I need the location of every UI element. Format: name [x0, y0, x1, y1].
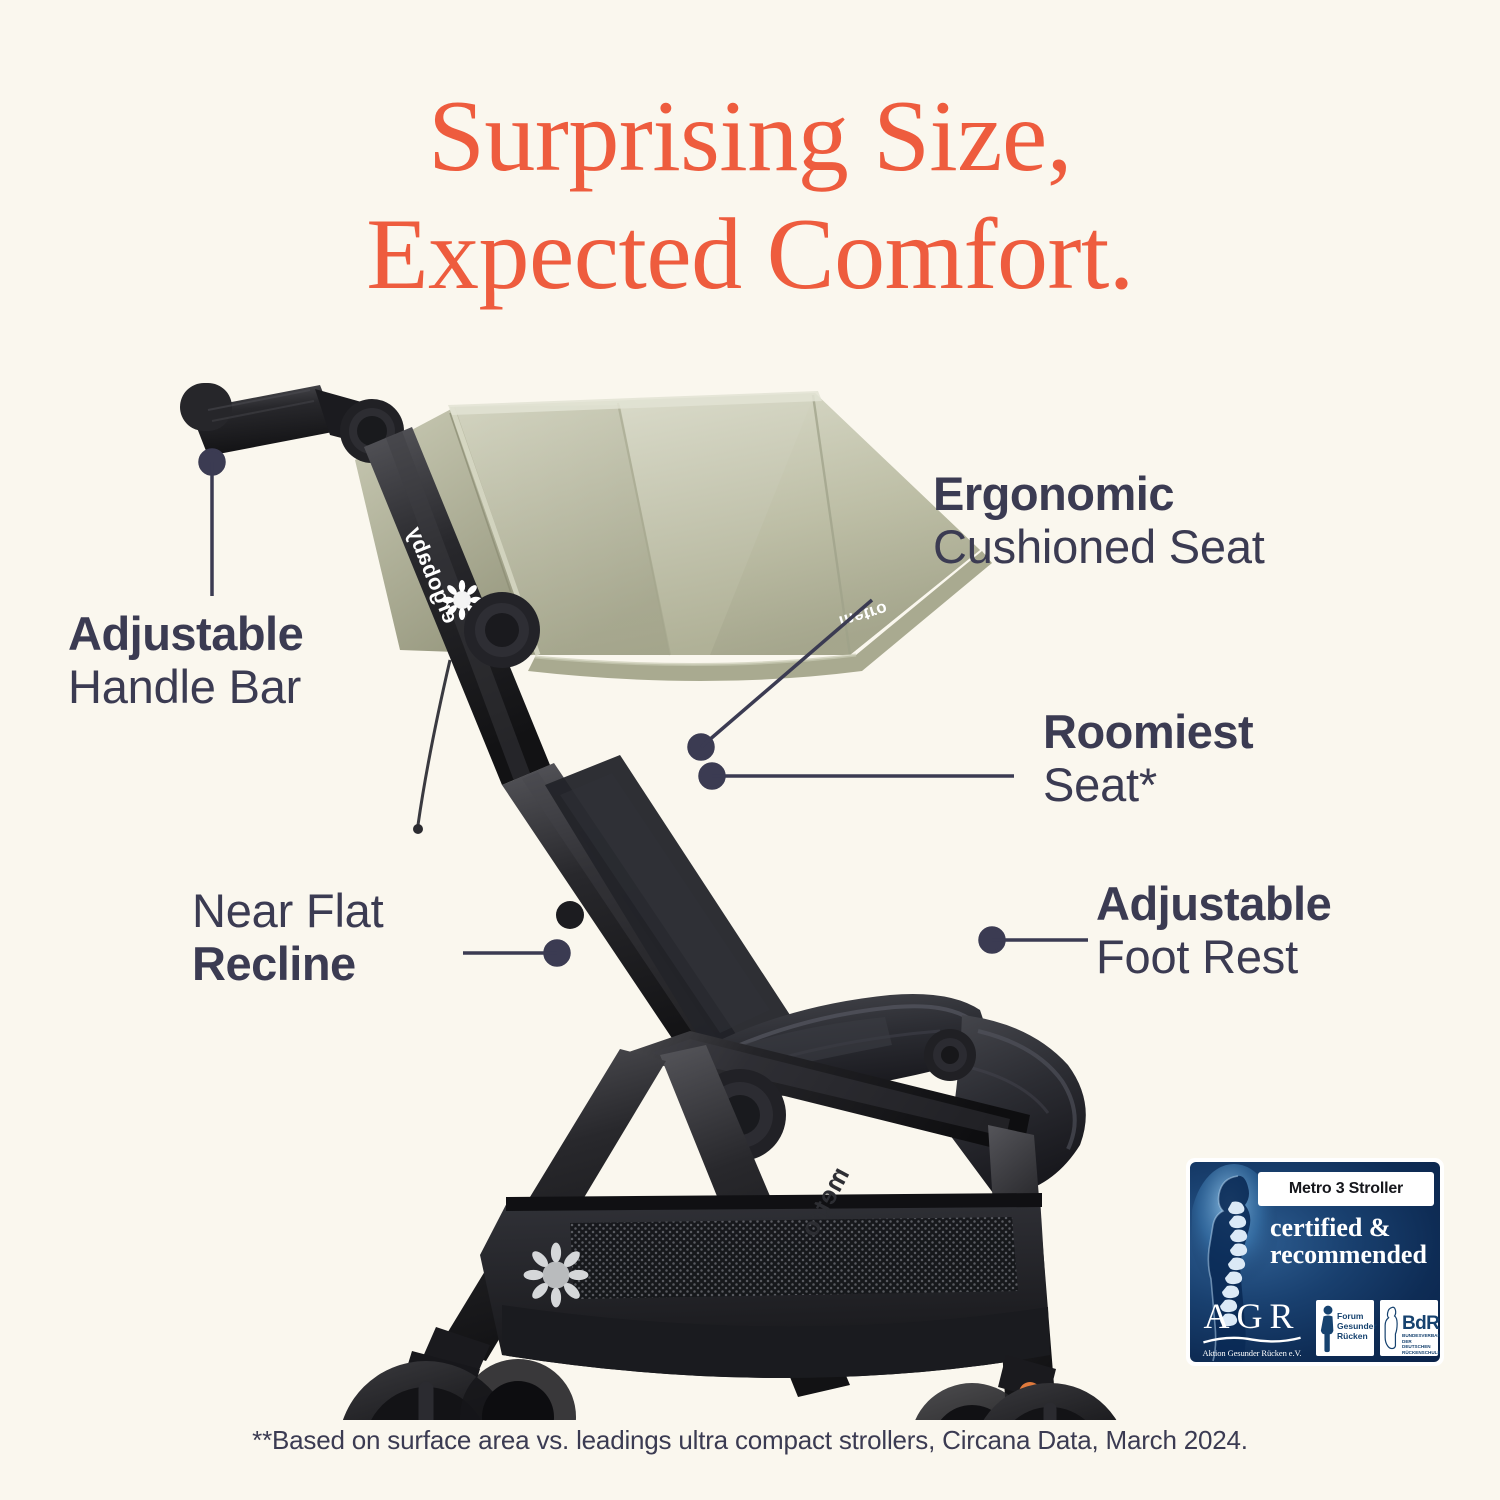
callout-ergonomic-cushioned-seat: Ergonomic Cushioned Seat	[933, 468, 1265, 573]
footnote-disclaimer: **Based on surface area vs. leadings ult…	[0, 1425, 1500, 1456]
badge-cert-line-2: recommended	[1270, 1241, 1436, 1268]
headline-line-2: Expected Comfort.	[0, 196, 1500, 314]
bdr-logo: BdR BUNDESVERBAND DER DEUTSCHEN RÜCKENSC…	[1380, 1300, 1438, 1356]
bdr-sub-1: BUNDESVERBAND	[1402, 1333, 1440, 1338]
badge-cert-line-1: certified &	[1270, 1214, 1436, 1241]
callout-recline-light: Near Flat	[192, 885, 383, 938]
agr-swoosh-icon	[1200, 1335, 1304, 1346]
callout-adjustable-foot-rest: Adjustable Foot Rest	[1096, 878, 1331, 983]
callout-ergo-light: Cushioned Seat	[933, 521, 1265, 574]
bdr-letters: BdR	[1402, 1313, 1439, 1335]
bdr-sub-2: DER DEUTSCHEN RÜCKENSCHULEN	[1402, 1339, 1440, 1355]
callout-adjustable-handle-bar: Adjustable Handle Bar	[68, 608, 303, 713]
agr-letters: AGR	[1196, 1298, 1308, 1334]
basket-flower-icon	[524, 1243, 589, 1308]
agr-logo: AGR Aktion Gesunder Rücken e.V.	[1196, 1298, 1308, 1358]
forum-gesunder-ruecken-logo: Forum Gesunder Rücken	[1316, 1300, 1374, 1356]
bdr-figure-icon	[1382, 1304, 1402, 1352]
callout-near-flat-recline: Near Flat Recline	[192, 885, 383, 990]
callout-foot-bold: Adjustable	[1096, 878, 1331, 931]
callout-ergo-bold: Ergonomic	[933, 468, 1265, 521]
callout-roomiest-seat: Roomiest Seat*	[1043, 706, 1253, 811]
badge-product-title: Metro 3 Stroller	[1258, 1172, 1434, 1206]
callout-recline-bold: Recline	[192, 938, 383, 991]
callout-handle-bold: Adjustable	[68, 608, 303, 661]
callout-foot-light: Foot Rest	[1096, 931, 1331, 984]
bdr-subtitle: BUNDESVERBAND DER DEUTSCHEN RÜCKENSCHULE…	[1402, 1333, 1436, 1356]
agr-certification-badge: Metro 3 Stroller certified & recommended…	[1186, 1158, 1444, 1366]
callout-handle-light: Handle Bar	[68, 661, 303, 714]
infographic-page: Surprising Size, Expected Comfort.	[0, 0, 1500, 1500]
forum-line-3: Rücken	[1337, 1331, 1368, 1341]
callout-roomy-light: Seat*	[1043, 759, 1253, 812]
forum-logo-text: Forum Gesunder Rücken	[1337, 1312, 1373, 1341]
forum-figure-icon	[1319, 1303, 1337, 1353]
badge-certification-text: certified & recommended	[1270, 1214, 1436, 1268]
agr-subtitle: Aktion Gesunder Rücken e.V.	[1196, 1348, 1308, 1358]
headline-line-1: Surprising Size,	[428, 80, 1072, 193]
page-title: Surprising Size, Expected Comfort.	[0, 78, 1500, 315]
forum-line-1: Forum	[1337, 1311, 1363, 1321]
callout-roomy-bold: Roomiest	[1043, 706, 1253, 759]
forum-line-2: Gesunder	[1337, 1321, 1377, 1331]
